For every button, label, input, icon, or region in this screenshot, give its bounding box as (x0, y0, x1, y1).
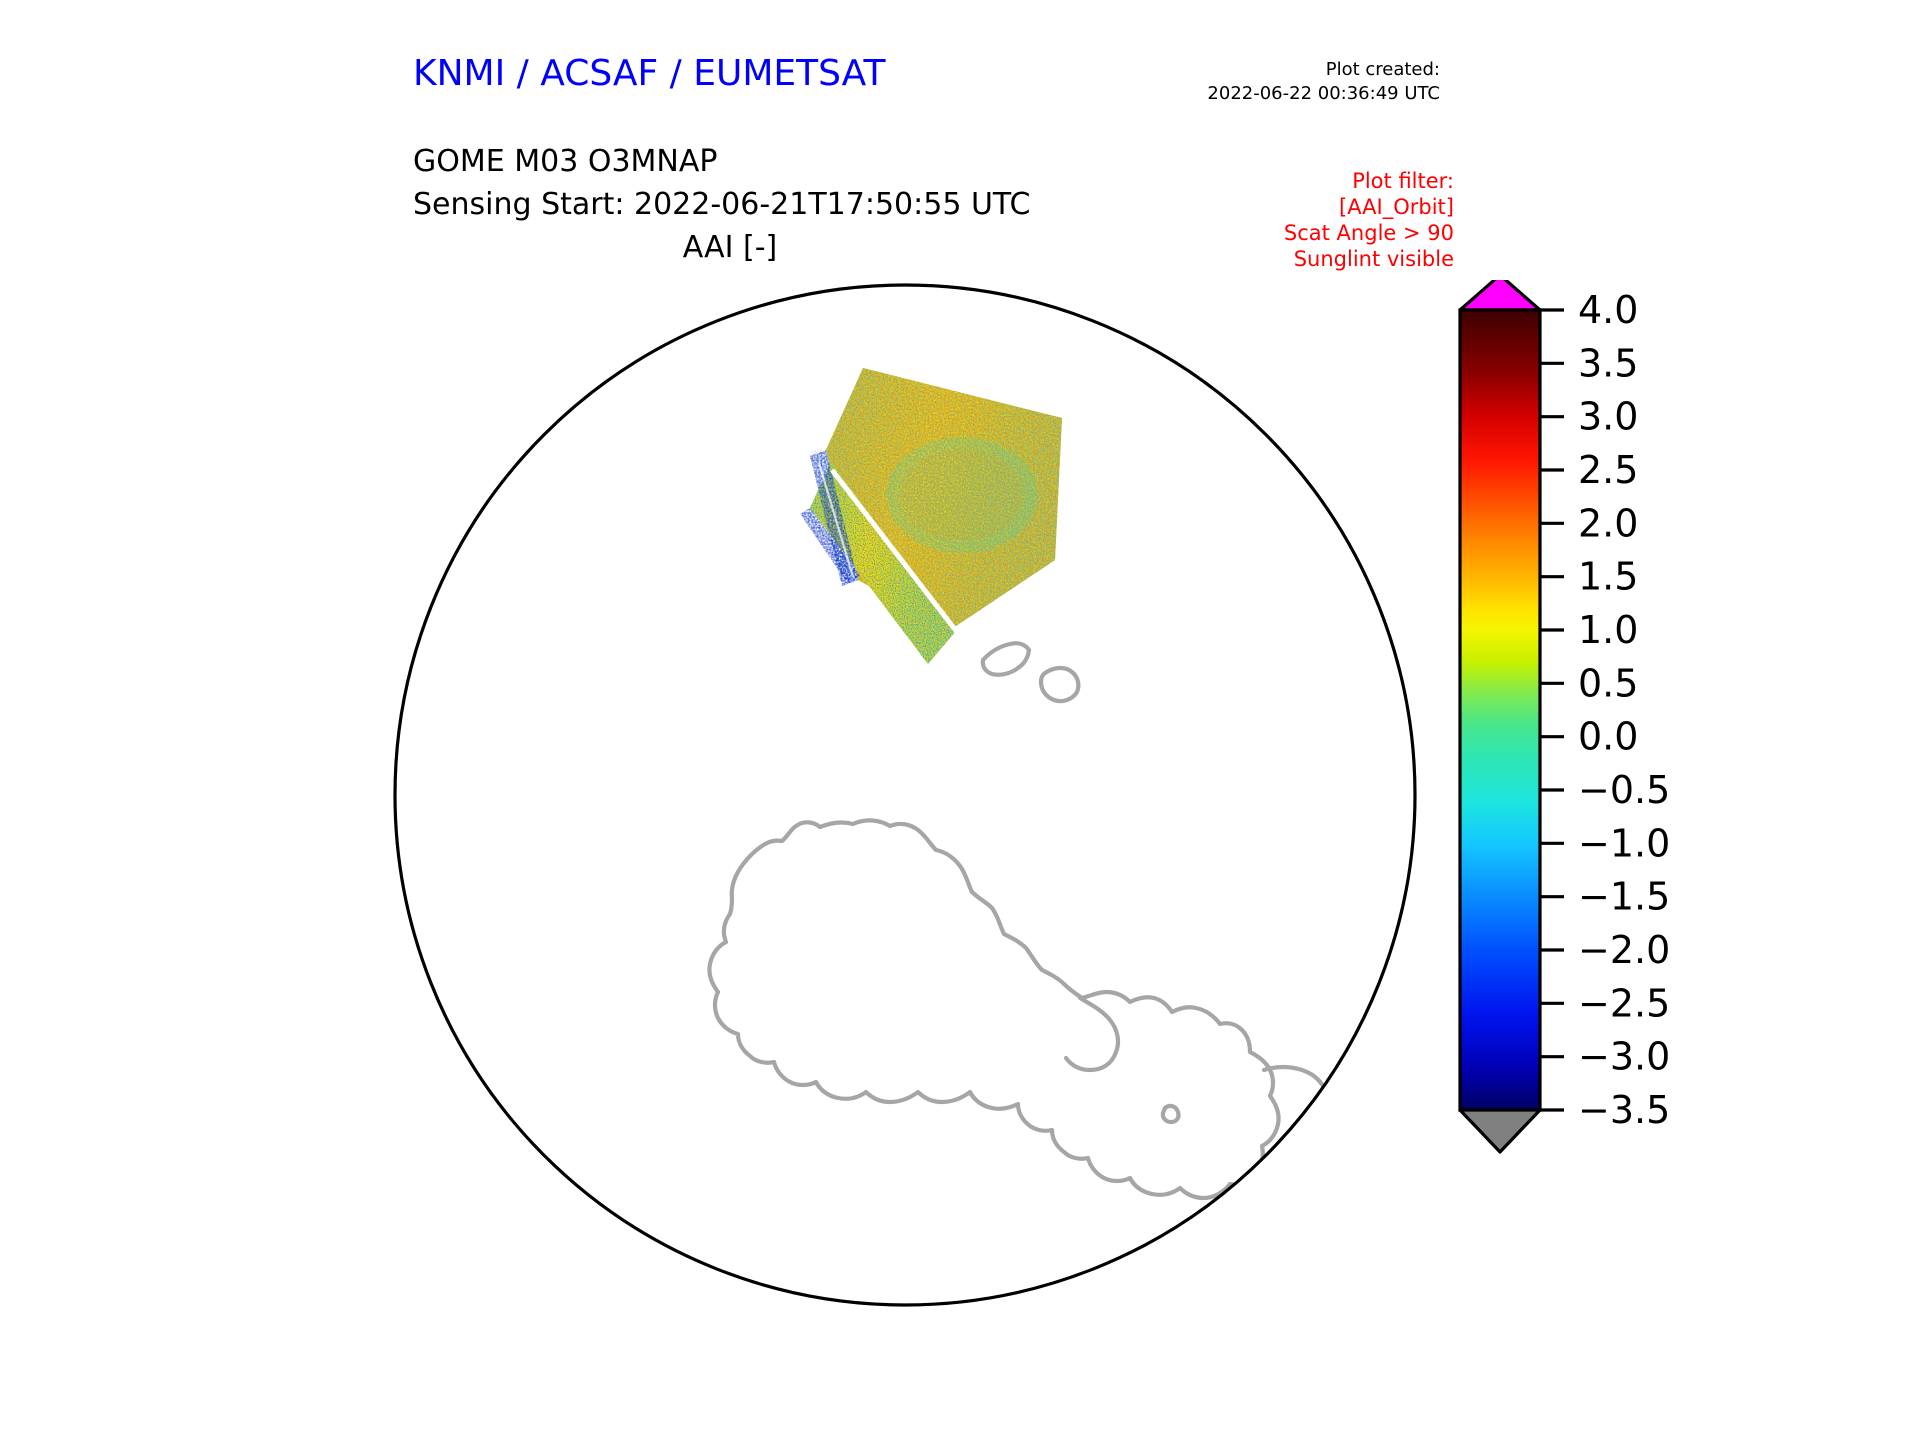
antarctica-coastline (709, 820, 1278, 1198)
aai-data-swath (800, 368, 1062, 664)
colorbar-svg: 4.03.53.02.52.01.51.00.50.0−0.5−1.0−1.5−… (1440, 280, 1840, 1310)
map-panel (390, 280, 1420, 1310)
colorbar-gradient (1460, 310, 1540, 1110)
plot-filter-label: Plot filter: (1284, 168, 1454, 194)
colorbar-tick-label: 0.0 (1578, 715, 1638, 759)
south-georgia-island (1041, 668, 1078, 701)
plot-created-timestamp: 2022-06-22 00:36:49 UTC (1207, 82, 1440, 106)
swath-segment-main (826, 368, 1062, 630)
figure-canvas: KNMI / ACSAF / EUMETSAT Plot created: 20… (0, 0, 1920, 1440)
colorbar-tick-label: −0.5 (1578, 768, 1670, 812)
colorbar-tick-label: 1.5 (1578, 555, 1638, 599)
colorbar-ticks: 4.03.53.02.52.01.51.00.50.0−0.5−1.0−1.5−… (1540, 288, 1670, 1132)
organisation-title: KNMI / ACSAF / EUMETSAT (413, 53, 885, 94)
product-info-block: GOME M03 O3MNAP Sensing Start: 2022-06-2… (413, 140, 1030, 226)
inner-island (1163, 1106, 1179, 1122)
colorbar-tick-label: 0.5 (1578, 661, 1638, 705)
colorbar-tick-label: 2.5 (1578, 448, 1638, 492)
colorbar-tick-label: 3.0 (1578, 395, 1638, 439)
colorbar-tick-label: −3.5 (1578, 1088, 1670, 1132)
colorbar-tick-label: −1.0 (1578, 821, 1670, 865)
colorbar-tick-label: 4.0 (1578, 288, 1638, 332)
colorbar-tick-label: −1.5 (1578, 875, 1670, 919)
plot-filter-block: Plot filter: [AAI_Orbit] Scat Angle > 90… (1284, 168, 1454, 272)
south-sandwich-islands (983, 643, 1029, 675)
antarctic-peninsula (1262, 1067, 1367, 1200)
colorbar-tick-label: 2.0 (1578, 501, 1638, 545)
page-title: AAI [-] (0, 230, 1460, 265)
colorbar-tick-label: −3.0 (1578, 1035, 1670, 1079)
colorbar-panel: 4.03.53.02.52.01.51.00.50.0−0.5−1.0−1.5−… (1440, 280, 1840, 1310)
colorbar-over-arrow (1460, 280, 1540, 310)
colorbar-tick-label: 1.0 (1578, 608, 1638, 652)
colorbar-tick-label: −2.0 (1578, 928, 1670, 972)
colorbar-tick-label: −2.5 (1578, 981, 1670, 1025)
plot-created-block: Plot created: 2022-06-22 00:36:49 UTC (1207, 58, 1440, 106)
plot-filter-variable: [AAI_Orbit] (1284, 194, 1454, 220)
plot-created-label: Plot created: (1207, 58, 1440, 82)
sensing-start: Sensing Start: 2022-06-21T17:50:55 UTC (413, 183, 1030, 226)
plot-filter-sunglint: Sunglint visible (1284, 246, 1454, 272)
plot-filter-scat-angle: Scat Angle > 90 (1284, 220, 1454, 246)
polar-map-svg (390, 280, 1420, 1310)
product-name: GOME M03 O3MNAP (413, 140, 1030, 183)
colorbar-under-arrow (1460, 1110, 1540, 1152)
coastlines-group (709, 643, 1420, 1264)
ross-ice-shelf-edge (1066, 998, 1118, 1070)
colorbar-tick-label: 3.5 (1578, 341, 1638, 385)
